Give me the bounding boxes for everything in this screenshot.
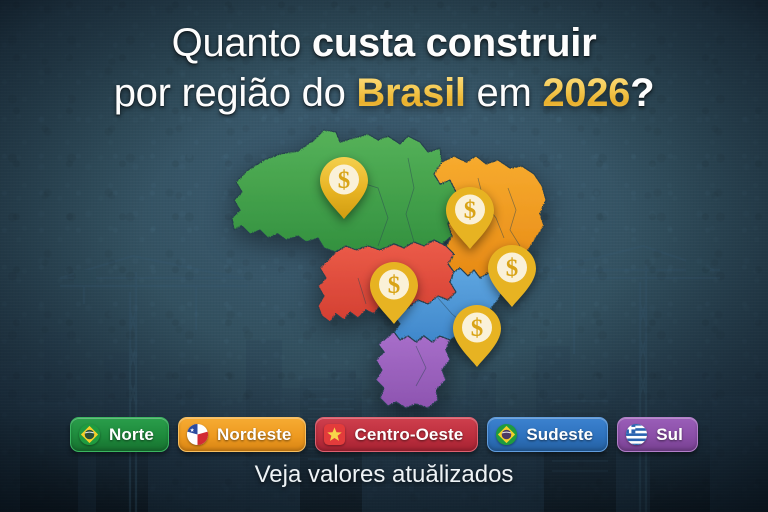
promo-banner: Quanto custa construir por região do Bra… <box>0 0 768 512</box>
title-highlight-year: 2026 <box>542 71 630 115</box>
title-question-mark: ? <box>630 71 654 115</box>
region-button-centro-oeste[interactable]: Centro-Oeste <box>315 417 478 452</box>
page-title: Quanto custa construir por região do Bra… <box>0 18 768 118</box>
region-button-sul[interactable]: Sul <box>617 417 698 452</box>
dollar-sign-map-pin[interactable]: $ <box>318 155 370 221</box>
dollar-sign-map-pin[interactable]: $ <box>486 243 538 309</box>
region-button-label: Nordeste <box>217 425 292 445</box>
vietnam-star-flag-icon <box>323 423 346 446</box>
region-button-label: Sul <box>656 425 683 445</box>
title-highlight-brasil: Brasil <box>356 71 465 115</box>
region-button-label: Centro-Oeste <box>354 425 463 445</box>
dollar-glyph: $ <box>464 197 477 224</box>
title-line2-em: em <box>466 71 543 115</box>
title-line2-light: por região do <box>114 71 357 115</box>
region-button-nordeste[interactable]: Nordeste <box>178 417 307 452</box>
dollar-sign-map-pin[interactable]: $ <box>444 185 496 251</box>
region-button-row: Norte Nordeste Centro-Oeste <box>0 417 768 452</box>
footer-caption: Veja valores atuălizados <box>0 461 768 489</box>
dollar-sign-map-pin[interactable]: $ <box>451 303 503 369</box>
dollar-sign-map-pin[interactable]: $ <box>368 260 420 326</box>
chile-circle-flag-icon <box>186 423 209 446</box>
greece-circle-flag-icon <box>625 423 648 446</box>
region-button-label: Norte <box>109 425 154 445</box>
region-button-norte[interactable]: Norte <box>70 417 169 452</box>
brazil-roundel-flag-icon <box>78 423 101 446</box>
title-line-2: por região do Brasil em 2026? <box>0 68 768 118</box>
dollar-glyph: $ <box>471 315 484 342</box>
title-line1-light: Quanto <box>172 21 312 65</box>
region-button-sudeste[interactable]: Sudeste <box>487 417 608 452</box>
title-line-1: Quanto custa construir <box>0 18 768 68</box>
map-region-sul <box>376 332 450 408</box>
dollar-glyph: $ <box>506 255 519 282</box>
dollar-glyph: $ <box>338 167 351 194</box>
brazil-roundel-flag-icon <box>495 423 518 446</box>
dollar-glyph: $ <box>388 272 401 299</box>
title-line1-bold: custa construir <box>312 21 596 65</box>
region-button-label: Sudeste <box>526 425 593 445</box>
